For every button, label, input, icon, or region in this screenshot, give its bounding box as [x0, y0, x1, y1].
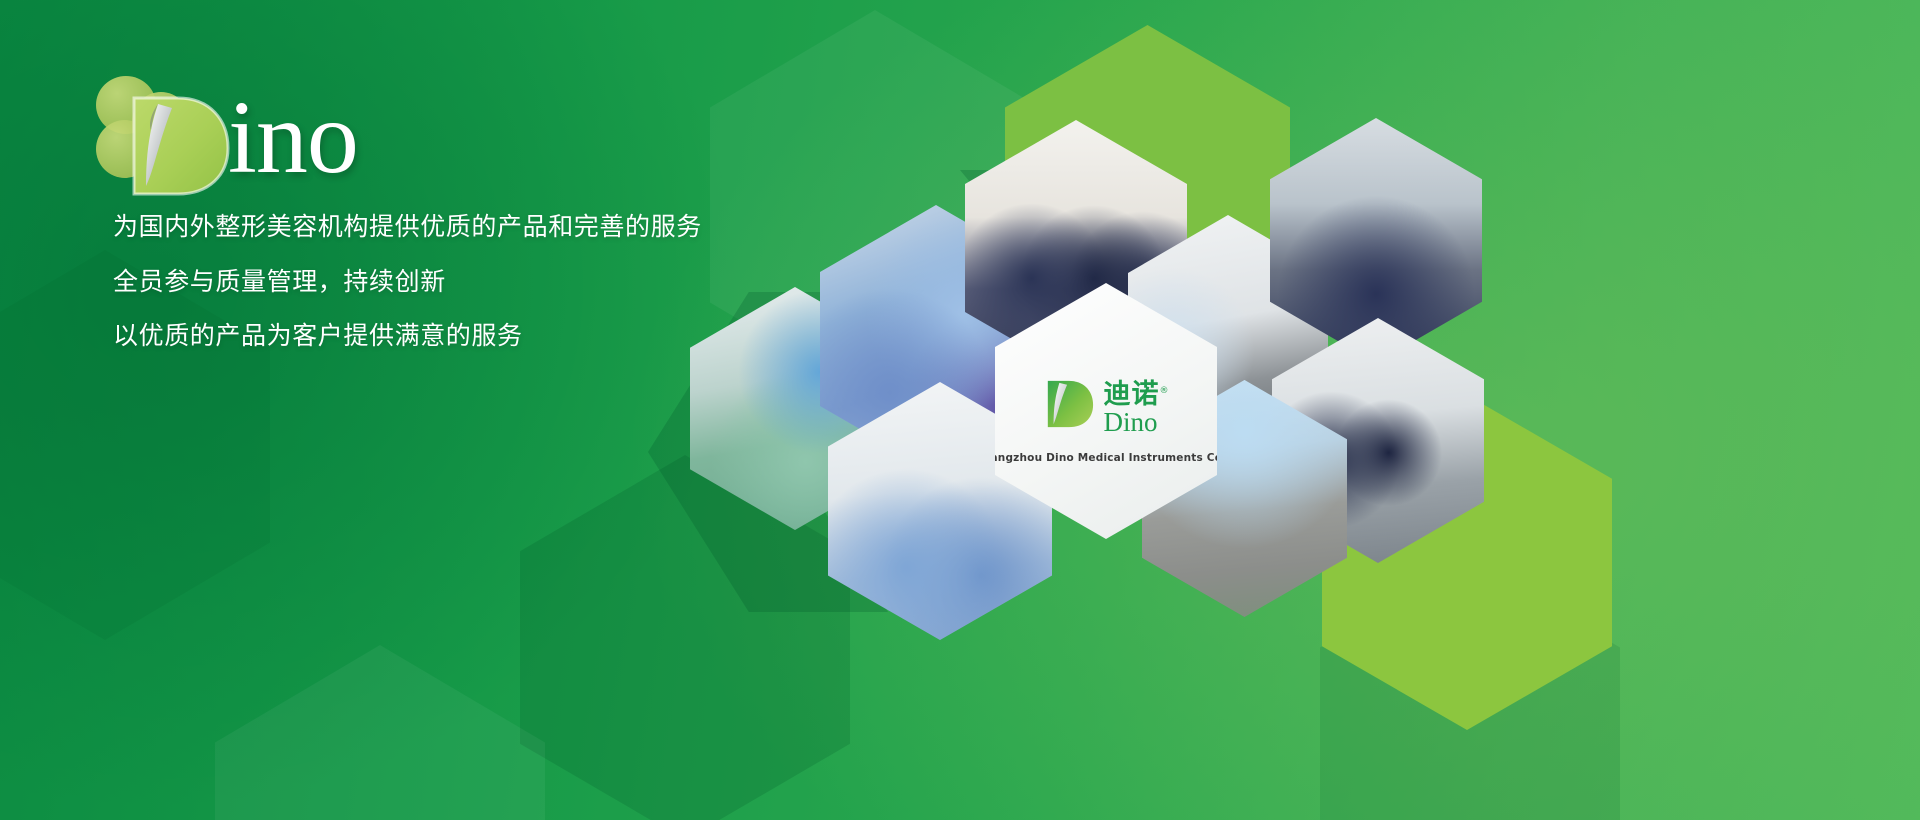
center-hex-logo-text: 迪诺® Dino — [1104, 372, 1170, 436]
center-hex-logo-cn: 迪诺® — [1104, 372, 1170, 411]
dino-leaf-d-icon-small — [1043, 378, 1095, 430]
hexagon-photo-cluster: 迪诺® Dino Hangzhou Dino Medical Instrumen… — [0, 0, 1920, 820]
registered-mark: ® — [1160, 386, 1170, 396]
company-hero-banner: ino 为国内外整形美容机构提供优质的产品和完善的服务 全员参与质量管理，持续创… — [0, 0, 1920, 820]
center-hex-company-name: Hangzhou Dino Medical Instruments Co.. — [995, 452, 1217, 464]
center-hex-logo-cn-text: 迪诺 — [1104, 379, 1160, 410]
center-hex-logo-row: 迪诺® Dino — [1043, 372, 1170, 436]
center-hex-logo-en: Dino — [1104, 409, 1158, 436]
